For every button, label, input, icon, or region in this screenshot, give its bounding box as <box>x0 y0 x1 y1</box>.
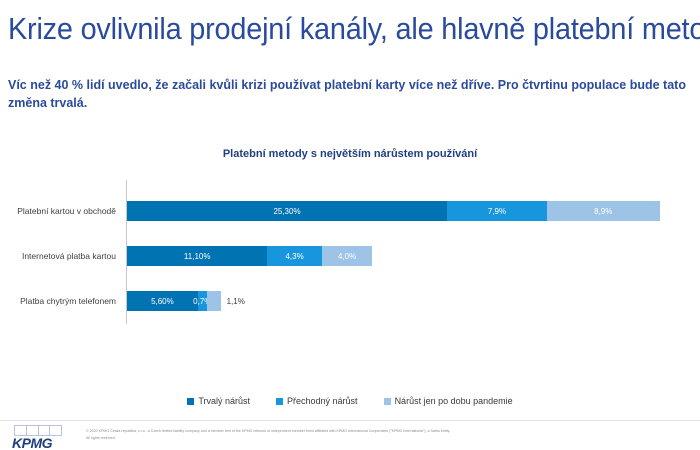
legend-label: Přechodný nárůst <box>287 396 358 406</box>
legend-item-pandemie[interactable]: Nárůst jen po dobu pandemie <box>384 396 513 406</box>
legend-item-prechodny[interactable]: Přechodný nárůst <box>276 396 358 406</box>
kpmg-wordmark: KPMG <box>12 435 52 450</box>
page-subtitle: Víc než 40 % lidí uvedlo, že začali kvůl… <box>8 76 692 112</box>
chart-row: Platební kartou v obchodě 25,30% 7,9% 8,… <box>0 200 700 222</box>
chart-row: Internetová platba kartou 11,10% 4,3% 4,… <box>0 245 700 267</box>
copyright-line-2: All rights reserved. <box>86 435 686 442</box>
legend-swatch-icon <box>276 398 283 405</box>
legend-item-trvaly[interactable]: Trvalý nárůst <box>187 396 250 406</box>
page-title: Krize ovlivnila prodejní kanály, ale hla… <box>8 12 650 46</box>
bar-chart: Platební kartou v obchodě 25,30% 7,9% 8,… <box>0 180 700 330</box>
bar-value-label-outside: 1,1% <box>221 291 245 311</box>
bar-segment-prechodny[interactable]: 4,3% <box>267 246 321 266</box>
chart-title: Platební metody s největším nárůstem pou… <box>0 148 700 160</box>
category-label: Internetová platba kartou <box>0 251 122 261</box>
footer-divider <box>0 420 700 421</box>
bar-segment-trvaly[interactable]: 11,10% <box>127 246 267 266</box>
footer-copyright: © 2020 KPMG Česká republika, s.r.o., a C… <box>86 428 686 442</box>
category-label: Platební kartou v obchodě <box>0 206 122 216</box>
legend-label: Trvalý nárůst <box>198 396 250 406</box>
stacked-bar: 5,60% 0,7% 1,1% <box>127 291 221 311</box>
bar-segment-prechodny[interactable]: 0,7% <box>198 291 207 311</box>
bar-segment-pandemie[interactable] <box>207 291 221 311</box>
bar-segment-prechodny[interactable]: 7,9% <box>447 201 547 221</box>
bar-segment-pandemie[interactable]: 8,9% <box>547 201 660 221</box>
bar-segment-trvaly[interactable]: 5,60% <box>127 291 198 311</box>
kpmg-logo-icon: KPMG <box>8 425 70 449</box>
slide: Krize ovlivnila prodejní kanály, ale hla… <box>0 0 700 450</box>
legend-swatch-icon <box>384 398 391 405</box>
chart-row: Platba chytrým telefonem 5,60% 0,7% 1,1% <box>0 290 700 312</box>
bar-segment-trvaly[interactable]: 25,30% <box>127 201 447 221</box>
legend-swatch-icon <box>187 398 194 405</box>
category-label: Platba chytrým telefonem <box>0 296 122 306</box>
stacked-bar: 25,30% 7,9% 8,9% <box>127 201 660 221</box>
bar-segment-pandemie[interactable]: 4,0% <box>322 246 373 266</box>
copyright-line-1: © 2020 KPMG Česká republika, s.r.o., a C… <box>86 428 686 435</box>
chart-legend: Trvalý nárůst Přechodný nárůst Nárůst je… <box>0 396 700 406</box>
stacked-bar: 11,10% 4,3% 4,0% <box>127 246 372 266</box>
legend-label: Nárůst jen po dobu pandemie <box>395 396 513 406</box>
